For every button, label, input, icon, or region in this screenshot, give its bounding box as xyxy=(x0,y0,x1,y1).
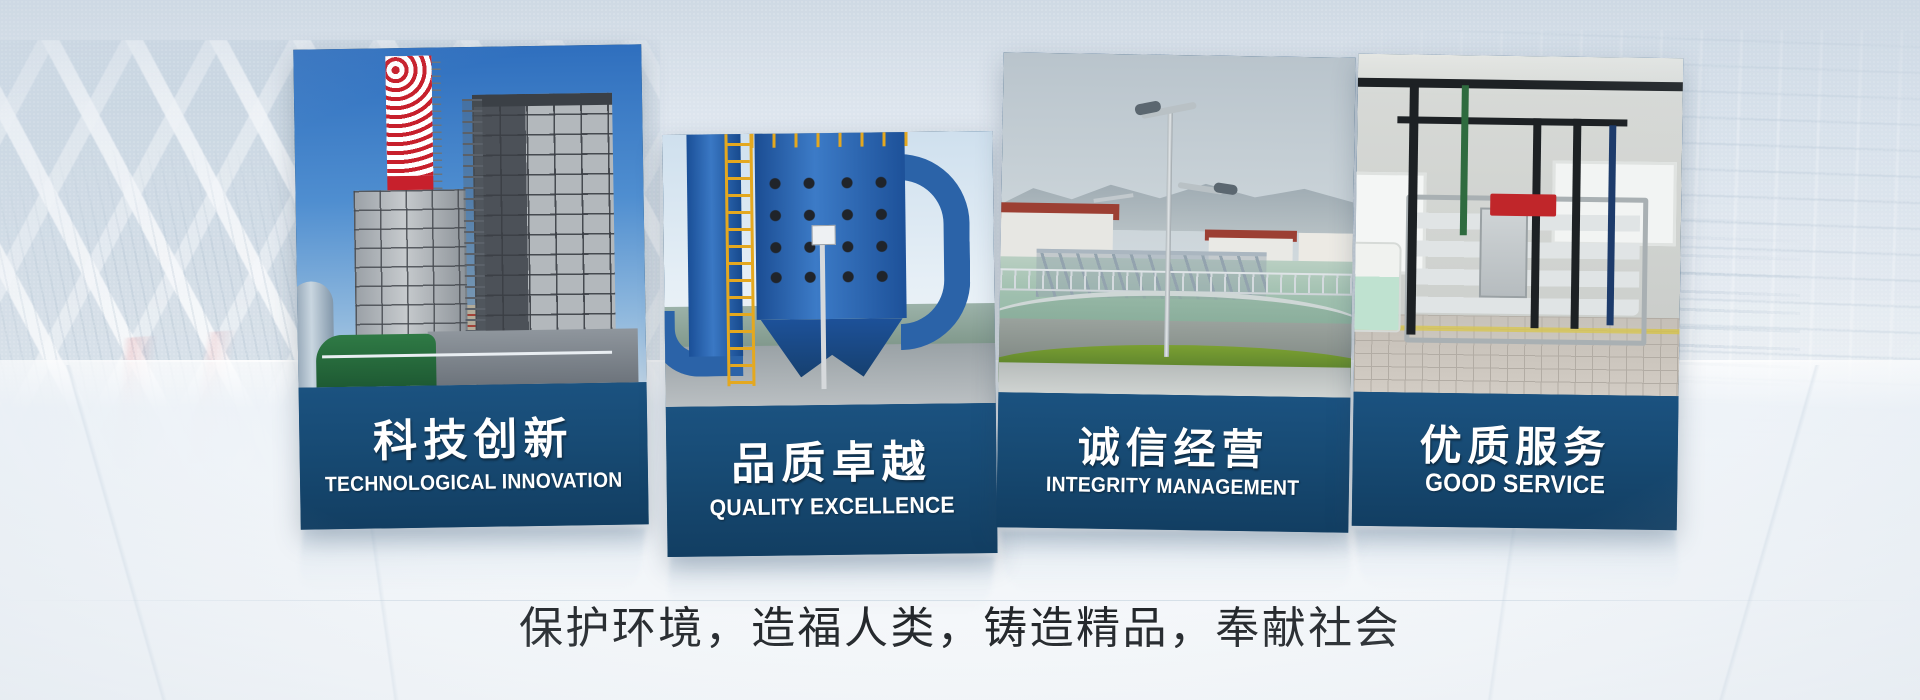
panel-title-en-2: QUALITY EXCELLENCE xyxy=(709,493,954,519)
panel-title-en-4: GOOD SERVICE xyxy=(1425,470,1605,498)
panel-title-en-1: TECHNOLOGICAL INNOVATION xyxy=(325,470,623,496)
panel-caption-2: 品质卓越 QUALITY EXCELLENCE xyxy=(666,403,998,557)
panel-title-cn-2: 品质卓越 xyxy=(731,441,932,487)
panel-photo-ro-water-system xyxy=(1354,54,1684,397)
panel-title-cn-1: 科技创新 xyxy=(373,417,574,464)
panel-photo-wastewater-plant xyxy=(998,52,1355,397)
culture-panel-technological-innovation[interactable]: 科技创新 TECHNOLOGICAL INNOVATION xyxy=(293,44,648,529)
panel-caption-4: 优质服务 GOOD SERVICE xyxy=(1352,392,1679,531)
panel-title-en-3: INTEGRITY MANAGEMENT xyxy=(1046,474,1300,499)
banner-stage: 科技创新 TECHNOLOGICAL INNOVATION xyxy=(0,0,1920,700)
panel-photo-dust-collector xyxy=(662,131,995,407)
culture-panel-good-service[interactable]: 优质服务 GOOD SERVICE xyxy=(1352,54,1684,530)
panel-title-cn-3: 诚信经营 xyxy=(1077,426,1269,471)
culture-panel-quality-excellence[interactable]: 品质卓越 QUALITY EXCELLENCE xyxy=(662,131,997,557)
panel-photo-industrial-chimney xyxy=(293,44,646,387)
banner-tagline: 保护环境，造福人类，铸造精品，奉献社会 xyxy=(0,592,1920,656)
culture-panel-integrity-management[interactable]: 诚信经营 INTEGRITY MANAGEMENT xyxy=(996,52,1355,532)
panel-title-cn-4: 优质服务 xyxy=(1419,424,1611,469)
panel-caption-1: 科技创新 TECHNOLOGICAL INNOVATION xyxy=(299,382,649,529)
panel-caption-3: 诚信经营 INTEGRITY MANAGEMENT xyxy=(996,392,1350,533)
